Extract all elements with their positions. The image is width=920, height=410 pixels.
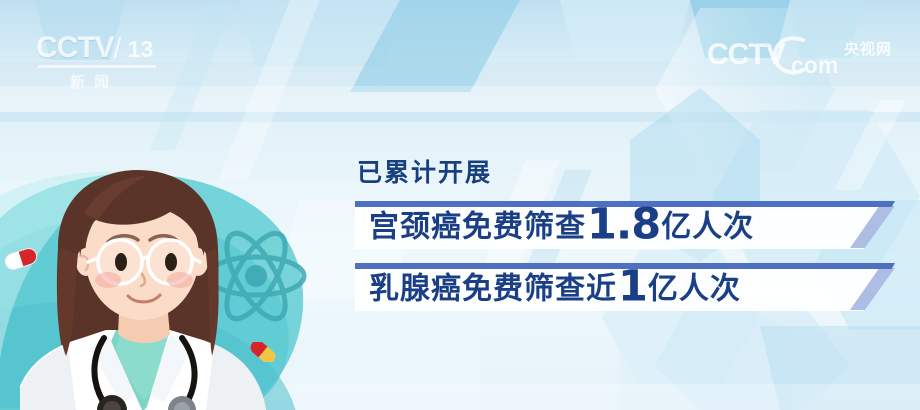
watermark-com-text: com bbox=[791, 54, 838, 77]
stat-banner-2-text: 乳腺癌免费筛查近1亿人次 bbox=[369, 265, 741, 308]
logo-cctv-text: CCTV bbox=[36, 33, 114, 63]
stat-2-number: 1 bbox=[618, 261, 647, 311]
stat-2-suffix: 亿人次 bbox=[648, 272, 741, 305]
doctor-svg bbox=[20, 170, 320, 410]
doctor-illustration bbox=[20, 170, 320, 410]
logo-channel-number: 13 bbox=[128, 36, 154, 63]
logo-separator: / bbox=[114, 32, 126, 64]
stat-1-suffix: 亿人次 bbox=[661, 210, 754, 243]
broadcast-frame: CCTV / 13 新闻 CCTV com 央视网 已累计开展 宫颈癌免费筛查1… bbox=[0, 0, 920, 410]
watermark-chinese-text: 央视网 bbox=[844, 38, 892, 59]
logo-subtitle: 新闻 bbox=[40, 71, 148, 92]
stat-1-number: 1.8 bbox=[587, 199, 660, 249]
cctv-com-watermark: CCTV com 央视网 bbox=[707, 34, 892, 80]
logo-underline bbox=[38, 65, 156, 68]
headline-kicker: 已累计开展 bbox=[357, 160, 895, 188]
stat-banner-1-text: 宫颈癌免费筛查1.8亿人次 bbox=[369, 203, 754, 246]
stat-2-prefix: 乳腺癌免费筛查近 bbox=[369, 272, 617, 305]
stat-banner-1: 宫颈癌免费筛查1.8亿人次 bbox=[355, 201, 895, 249]
cctv-13-logo: CCTV / 13 新闻 bbox=[36, 32, 166, 92]
stat-1-prefix: 宫颈癌免费筛查 bbox=[369, 210, 586, 243]
headline-block: 已累计开展 宫颈癌免费筛查1.8亿人次 乳腺癌免费筛查近1亿人次 bbox=[355, 160, 895, 325]
stat-banner-2: 乳腺癌免费筛查近1亿人次 bbox=[355, 263, 895, 311]
